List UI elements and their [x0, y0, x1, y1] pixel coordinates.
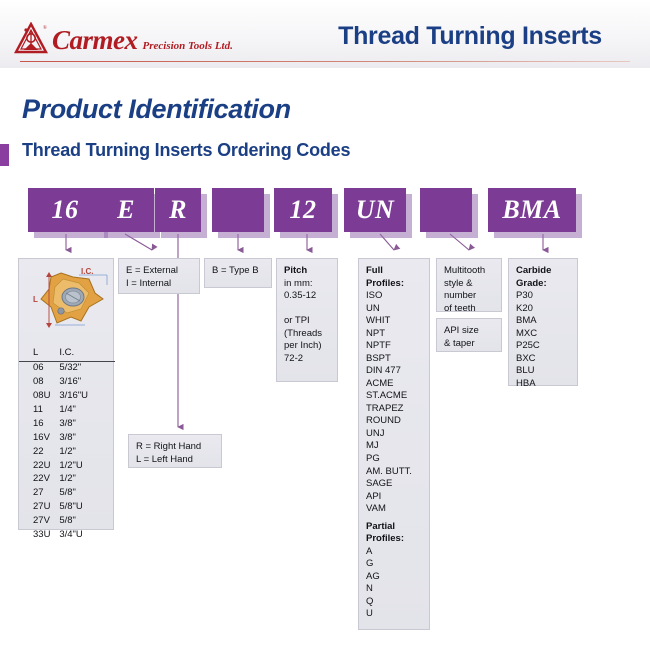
- internal-line: I = Internal: [126, 278, 171, 289]
- pitch-mm-label: in mm:: [284, 278, 313, 289]
- list-item: SAGE: [366, 478, 422, 491]
- code-box-grade[interactable]: BMA: [488, 188, 576, 232]
- list-item: WHIT: [366, 315, 422, 328]
- cell-ic: 3/8": [59, 431, 115, 445]
- type-b-line: B = Type B: [212, 265, 259, 276]
- list-item: ROUND: [366, 415, 422, 428]
- table-row: 08U3/16"U: [19, 389, 115, 403]
- code-box-pitch[interactable]: 12: [274, 188, 332, 232]
- table-row: 27V5/8": [19, 515, 115, 529]
- cell-ic: 3/8": [59, 417, 115, 431]
- list-item: AM. BUTT.: [366, 466, 422, 479]
- cell-ic: 3/16": [59, 375, 115, 389]
- api-line-1: API size: [444, 325, 479, 336]
- list-item: PG: [366, 453, 422, 466]
- list-item: MJ: [366, 440, 422, 453]
- full-profiles-heading-1: Full: [366, 265, 422, 278]
- col-header-ic: I.C.: [59, 347, 115, 361]
- cell-ic: 5/32": [59, 361, 115, 375]
- page-header: ® Carmex Precision Tools Ltd. Thread Tur…: [0, 0, 650, 68]
- code-box-external-internal-label: E: [117, 195, 135, 225]
- list-item: ST.ACME: [366, 390, 422, 403]
- table-row: 27U5/8"U: [19, 501, 115, 515]
- partial-profiles-heading-2: Profiles:: [366, 533, 422, 546]
- insert-diagram: L I.C.: [19, 259, 115, 345]
- left-hand-line: L = Left Hand: [136, 454, 193, 465]
- cell-ic: 1/2": [59, 473, 115, 487]
- partial-profiles-list: AGAGNQU: [366, 546, 422, 621]
- table-row: 275/8": [19, 487, 115, 501]
- code-box-profile[interactable]: UN: [344, 188, 406, 232]
- multitooth-line-1: Multitooth: [444, 265, 485, 276]
- grade-heading-2: Grade:: [516, 278, 570, 291]
- list-item: BSPT: [366, 353, 422, 366]
- list-item: MXC: [516, 328, 570, 341]
- list-item: P25C: [516, 340, 570, 353]
- cell-l: 16V: [19, 431, 59, 445]
- list-item: N: [366, 583, 422, 596]
- brand-logo: ® Carmex Precision Tools Ltd.: [14, 22, 232, 56]
- accent-bar: [0, 144, 9, 166]
- list-item: UN: [366, 303, 422, 316]
- pitch-tpi-note-2: per Inch): [284, 340, 322, 351]
- pitch-mm-range: 0.35-12: [284, 290, 316, 301]
- list-item: K20: [516, 303, 570, 316]
- profiles-box: Full Profiles: ISOUNWHITNPTNPTFBSPTDIN 4…: [358, 258, 430, 630]
- pitch-tpi-note-1: (Threads: [284, 328, 322, 339]
- table-row: 083/16": [19, 375, 115, 389]
- carbide-grade-list: P30K20BMAMXCP25CBXCBLUHBA: [516, 290, 570, 390]
- type-box: B = Type B: [204, 258, 272, 288]
- cell-l: 22V: [19, 473, 59, 487]
- code-box-hand-label: R: [169, 195, 187, 225]
- page-title: Product Identification: [22, 94, 291, 125]
- cell-l: 16: [19, 417, 59, 431]
- cell-ic: 3/16"U: [59, 389, 115, 403]
- list-item: P30: [516, 290, 570, 303]
- multitooth-line-4: of teeth: [444, 303, 476, 314]
- multitooth-line-2: style &: [444, 278, 473, 289]
- table-row: 065/32": [19, 361, 115, 375]
- cell-l: 22U: [19, 459, 59, 473]
- list-item: BMA: [516, 315, 570, 328]
- list-item: ISO: [366, 290, 422, 303]
- list-item: AG: [366, 571, 422, 584]
- list-item: A: [366, 546, 422, 559]
- cell-ic: 5/8": [59, 487, 115, 501]
- carmex-triangle-logo-icon: ®: [14, 22, 48, 56]
- list-item: G: [366, 558, 422, 571]
- insert-dim-ic-label: I.C.: [81, 267, 93, 278]
- pitch-heading: Pitch: [284, 265, 330, 278]
- code-box-size-label: 16: [52, 195, 79, 225]
- list-item: TRAPEZ: [366, 403, 422, 416]
- list-item: DIN 477: [366, 365, 422, 378]
- brand-tagline: Precision Tools Ltd.: [143, 41, 233, 52]
- list-item: BXC: [516, 353, 570, 366]
- cell-l: 33U: [19, 528, 59, 542]
- partial-profiles-heading-1: Partial: [366, 521, 422, 534]
- table-row: 163/8": [19, 417, 115, 431]
- cell-l: 11: [19, 403, 59, 417]
- table-header-row: L I.C.: [19, 347, 115, 361]
- full-profiles-list: ISOUNWHITNPTNPTFBSPTDIN 477ACMEST.ACMETR…: [366, 290, 422, 516]
- cell-ic: 1/2": [59, 445, 115, 459]
- table-row: 221/2": [19, 445, 115, 459]
- right-hand-line: R = Right Hand: [136, 441, 201, 452]
- pitch-tpi-label: or TPI: [284, 315, 310, 326]
- table-row: 111/4": [19, 403, 115, 417]
- cell-l: 22: [19, 445, 59, 459]
- code-box-external-internal[interactable]: E: [98, 188, 154, 232]
- list-item: VAM: [366, 503, 422, 516]
- external-line: E = External: [126, 265, 178, 276]
- full-profiles-heading-2: Profiles:: [366, 278, 422, 291]
- code-box-grade-label: BMA: [502, 195, 561, 225]
- code-box-multitooth[interactable]: [420, 188, 472, 232]
- list-item: NPTF: [366, 340, 422, 353]
- list-item: NPT: [366, 328, 422, 341]
- cell-ic: 5/8"U: [59, 501, 115, 515]
- multitooth-box: Multitooth style & number of teeth: [436, 258, 502, 312]
- svg-text:®: ®: [43, 25, 47, 31]
- cell-l: 27: [19, 487, 59, 501]
- list-item: U: [366, 608, 422, 621]
- external-internal-box: E = External I = Internal: [118, 258, 200, 294]
- cell-l: 27U: [19, 501, 59, 515]
- list-item: HBA: [516, 378, 570, 391]
- insert-size-panel: L I.C. L I.C. 065/32"083/16"08U3/16"U111…: [18, 258, 114, 530]
- table-row: 16V3/8": [19, 431, 115, 445]
- header-divider: [20, 61, 630, 62]
- cell-l: 06: [19, 361, 59, 375]
- list-item: Q: [366, 596, 422, 609]
- list-item: API: [366, 491, 422, 504]
- cell-ic: 1/4": [59, 403, 115, 417]
- code-box-size[interactable]: 16: [28, 188, 102, 232]
- list-item: UNJ: [366, 428, 422, 441]
- table-row: 33U3/4"U: [19, 528, 115, 542]
- multitooth-line-3: number: [444, 290, 476, 301]
- cell-l: 08U: [19, 389, 59, 403]
- insert-size-table: L I.C. 065/32"083/16"08U3/16"U111/4"163/…: [19, 347, 115, 542]
- list-item: ACME: [366, 378, 422, 391]
- api-line-2: & taper: [444, 338, 475, 349]
- table-row: 22V1/2": [19, 473, 115, 487]
- page-subtitle: Thread Turning Inserts Ordering Codes: [22, 140, 350, 161]
- pitch-box: Pitch in mm: 0.35-12 or TPI (Threads per…: [276, 258, 338, 382]
- table-row: 22U1/2"U: [19, 459, 115, 473]
- list-item: BLU: [516, 365, 570, 378]
- code-box-hand[interactable]: R: [155, 188, 201, 232]
- col-header-l: L: [19, 347, 59, 361]
- cell-l: 08: [19, 375, 59, 389]
- insert-dim-l-label: L: [33, 295, 38, 306]
- header-title: Thread Turning Inserts: [300, 22, 640, 51]
- carbide-grade-box: Carbide Grade: P30K20BMAMXCP25CBXCBLUHBA: [508, 258, 578, 386]
- cell-l: 27V: [19, 515, 59, 529]
- pitch-tpi-range: 72-2: [284, 353, 303, 364]
- brand-name: Carmex: [52, 27, 138, 54]
- cell-ic: 5/8": [59, 515, 115, 529]
- cell-ic: 1/2"U: [59, 459, 115, 473]
- code-box-type[interactable]: [212, 188, 264, 232]
- code-box-profile-label: UN: [356, 195, 395, 225]
- code-box-pitch-label: 12: [290, 195, 317, 225]
- grade-heading-1: Carbide: [516, 265, 570, 278]
- hand-box: R = Right Hand L = Left Hand: [128, 434, 222, 468]
- api-size-box: API size & taper: [436, 318, 502, 352]
- cell-ic: 3/4"U: [59, 528, 115, 542]
